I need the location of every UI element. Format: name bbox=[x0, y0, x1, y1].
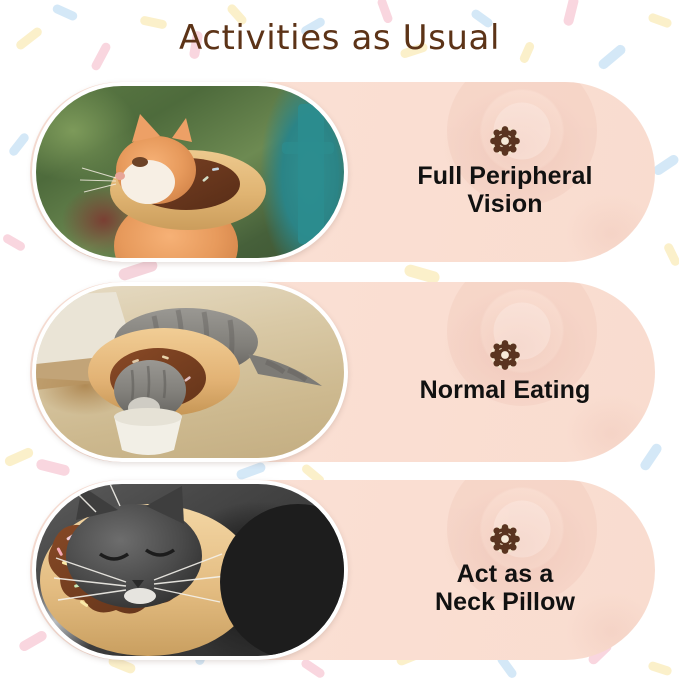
card-photo-frame bbox=[32, 282, 348, 462]
sprinkle-icon bbox=[300, 657, 327, 679]
donut-icon bbox=[490, 340, 520, 370]
page-title: Activities as Usual bbox=[0, 18, 679, 58]
photo-illustration bbox=[36, 484, 344, 656]
photo-grey-cat-sleeping bbox=[36, 484, 344, 656]
donut-icon bbox=[490, 126, 520, 156]
card-photo-frame bbox=[32, 82, 348, 262]
feature-card-act-as-a-neck-pillow: Act as a Neck Pillow bbox=[30, 480, 655, 660]
card-content: Full Peripheral Vision bbox=[355, 82, 655, 262]
sprinkle-icon bbox=[7, 131, 30, 157]
sprinkle-icon bbox=[235, 461, 267, 481]
feature-card-normal-eating: Normal Eating bbox=[30, 282, 655, 462]
feature-label: Normal Eating bbox=[420, 376, 591, 405]
sprinkle-icon bbox=[663, 242, 679, 268]
card-content: Act as a Neck Pillow bbox=[355, 480, 655, 660]
photo-illustration bbox=[36, 286, 344, 458]
feature-card-full-peripheral-vision: Full Peripheral Vision bbox=[30, 82, 655, 262]
card-photo-frame bbox=[32, 480, 348, 660]
card-content: Normal Eating bbox=[355, 282, 655, 462]
photo-illustration bbox=[36, 86, 344, 258]
feature-label: Act as a Neck Pillow bbox=[435, 560, 575, 617]
donut-icon bbox=[490, 524, 520, 554]
sprinkle-icon bbox=[1, 233, 26, 253]
sprinkle-icon bbox=[647, 661, 673, 677]
photo-orange-tabby-cat bbox=[36, 86, 344, 258]
feature-label: Full Peripheral Vision bbox=[417, 162, 592, 219]
photo-grey-tabby-eating bbox=[36, 286, 344, 458]
sprinkle-icon bbox=[652, 153, 679, 177]
